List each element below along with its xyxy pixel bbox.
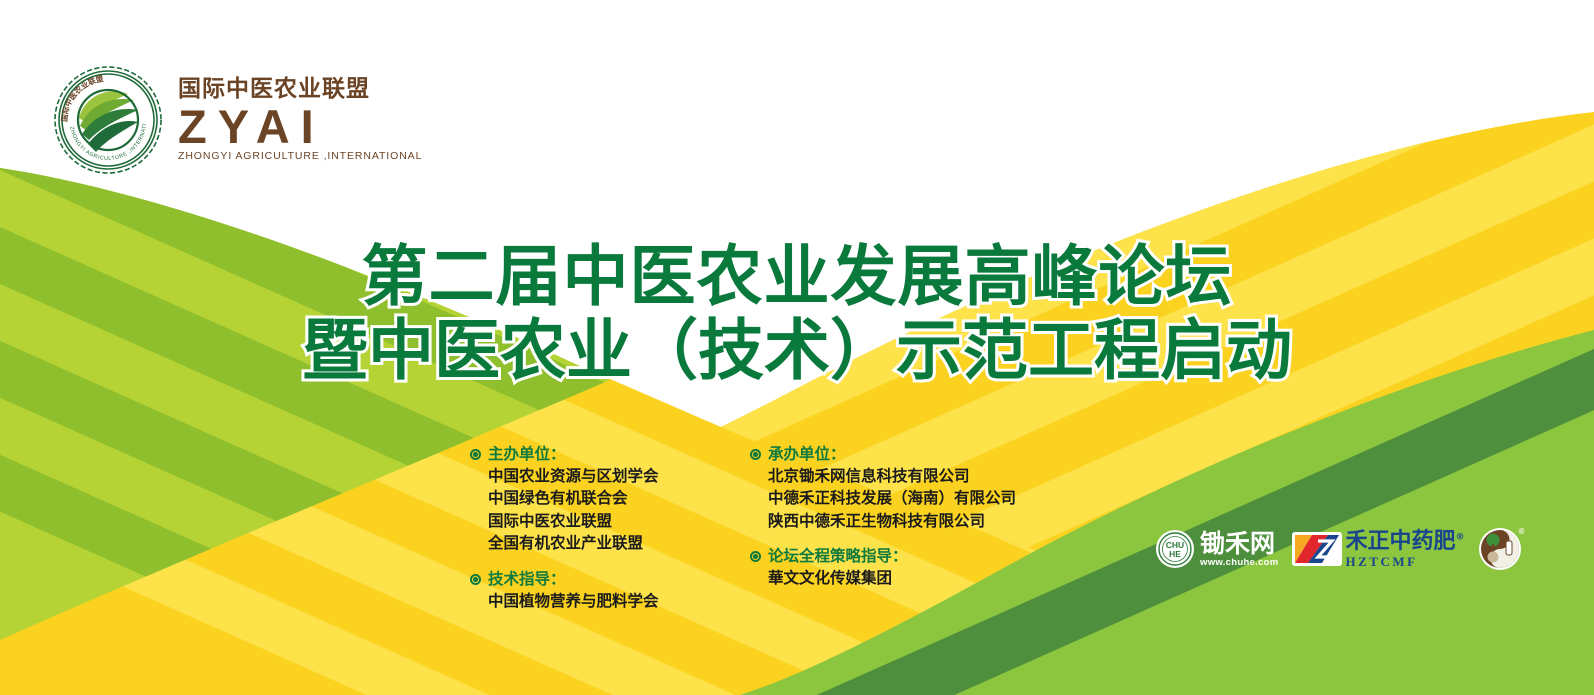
zyai-name-en: ZHONGYI AGRICULTURE ,INTERNATIONAL	[178, 151, 422, 162]
credit-heading-label: 承办单位：	[768, 444, 846, 465]
credits-right-column: 承办单位： 北京锄禾网信息科技有限公司 中德禾正科技发展（海南）有限公司 陕西中…	[750, 444, 1050, 626]
bullet-icon	[750, 449, 761, 460]
zyai-abbreviation: ZYAI	[178, 103, 422, 150]
credit-heading-label: 论坛全程策略指导：	[768, 546, 908, 567]
credits-left-column: 主办单位： 中国农业资源与区划学会 中国绿色有机联合会 国际中医农业联盟 全国有…	[470, 444, 732, 626]
credit-items: 北京锄禾网信息科技有限公司 中德禾正科技发展（海南）有限公司 陕西中德禾正生物科…	[768, 465, 1050, 532]
credits-block: 主办单位： 中国农业资源与区划学会 中国绿色有机联合会 国际中医农业联盟 全国有…	[470, 444, 1050, 626]
credit-heading: 主办单位：	[470, 444, 732, 465]
credit-heading-label: 技术指导：	[488, 569, 566, 590]
credit-items: 中国植物营养与肥料学会	[488, 590, 732, 612]
hzt-trademark: ®	[1456, 532, 1465, 542]
credit-item: 中国植物营养与肥料学会	[488, 590, 732, 612]
credit-item: 中德禾正科技发展（海南）有限公司	[768, 487, 1050, 509]
credit-heading: 承办单位：	[750, 444, 1050, 465]
credit-group-organizers: 主办单位： 中国农业资源与区划学会 中国绿色有机联合会 国际中医农业联盟 全国有…	[470, 444, 732, 555]
credit-item: 中国绿色有机联合会	[488, 487, 732, 509]
credit-group-co-organizers: 承办单位： 北京锄禾网信息科技有限公司 中德禾正科技发展（海南）有限公司 陕西中…	[750, 444, 1050, 532]
credit-group-technical-guidance: 技术指导： 中国植物营养与肥料学会	[470, 569, 732, 612]
zyai-name-cn: 国际中医农业联盟	[178, 78, 422, 101]
event-banner: 国际中医农业联盟 ZHONGYI AGRICULTURE ,INTERNATIO…	[0, 0, 1594, 695]
credit-group-strategy-guidance: 论坛全程策略指导： 華文文化传媒集团	[750, 546, 1050, 589]
zyai-wordmark: 国际中医农业联盟 ZYAI ZHONGYI AGRICULTURE ,INTER…	[178, 78, 422, 162]
credit-item: 北京锄禾网信息科技有限公司	[768, 465, 1050, 487]
title-line-2: 暨中医农业（技术）示范工程启动	[0, 314, 1594, 388]
hzt-name-cn-label: 禾正中药肥	[1346, 529, 1456, 554]
credit-items: 華文文化传媒集团	[768, 567, 1050, 589]
chuhe-circular-seal-icon: CHU HE	[1155, 529, 1195, 569]
sponsor-logo-strip: CHU HE 锄禾网 www.chuhe.com 禾正中药肥® HZTCMF	[1155, 527, 1522, 571]
bullet-icon	[470, 574, 481, 585]
roundel-trademark: ®	[1519, 527, 1525, 536]
title-line-1: 第二届中医农业发展高峰论坛	[0, 240, 1594, 314]
svg-text:HE: HE	[1169, 549, 1181, 559]
page-title: 第二届中医农业发展高峰论坛 暨中医农业（技术）示范工程启动	[0, 240, 1594, 388]
sponsor-hzt: 禾正中药肥® HZTCMF	[1292, 531, 1465, 568]
zyai-logo-lockup: 国际中医农业联盟 ZHONGYI AGRICULTURE ,INTERNATIO…	[52, 64, 422, 176]
hzt-name-cn: 禾正中药肥®	[1346, 531, 1465, 553]
bullet-icon	[750, 551, 761, 562]
hzt-wordmark: 禾正中药肥® HZTCMF	[1346, 531, 1465, 568]
credit-items: 中国农业资源与区划学会 中国绿色有机联合会 国际中医农业联盟 全国有机农业产业联…	[488, 465, 732, 555]
zyai-circular-seal-icon: 国际中医农业联盟 ZHONGYI AGRICULTURE ,INTERNATIO…	[52, 64, 164, 176]
credit-item: 全国有机农业产业联盟	[488, 532, 732, 554]
credit-heading: 技术指导：	[470, 569, 732, 590]
credit-item: 陕西中德禾正生物科技有限公司	[768, 510, 1050, 532]
sponsor-chuhe: CHU HE 锄禾网 www.chuhe.com	[1155, 529, 1279, 569]
bullet-icon	[470, 449, 481, 460]
tree-root-roundel-icon	[1478, 527, 1522, 571]
chuhe-url: www.chuhe.com	[1200, 558, 1279, 568]
credit-heading-label: 主办单位：	[488, 444, 566, 465]
credit-item: 華文文化传媒集团	[768, 567, 1050, 589]
credit-heading: 论坛全程策略指导：	[750, 546, 1050, 567]
credit-item: 中国农业资源与区划学会	[488, 465, 732, 487]
hzt-slash-flag-icon	[1292, 532, 1342, 566]
chuhe-wordmark: 锄禾网 www.chuhe.com	[1200, 531, 1279, 568]
hzt-name-en: HZTCMF	[1346, 555, 1465, 568]
credit-item: 国际中医农业联盟	[488, 510, 732, 532]
chuhe-name-cn: 锄禾网	[1200, 531, 1279, 556]
sponsor-roundel: ®	[1478, 527, 1522, 571]
